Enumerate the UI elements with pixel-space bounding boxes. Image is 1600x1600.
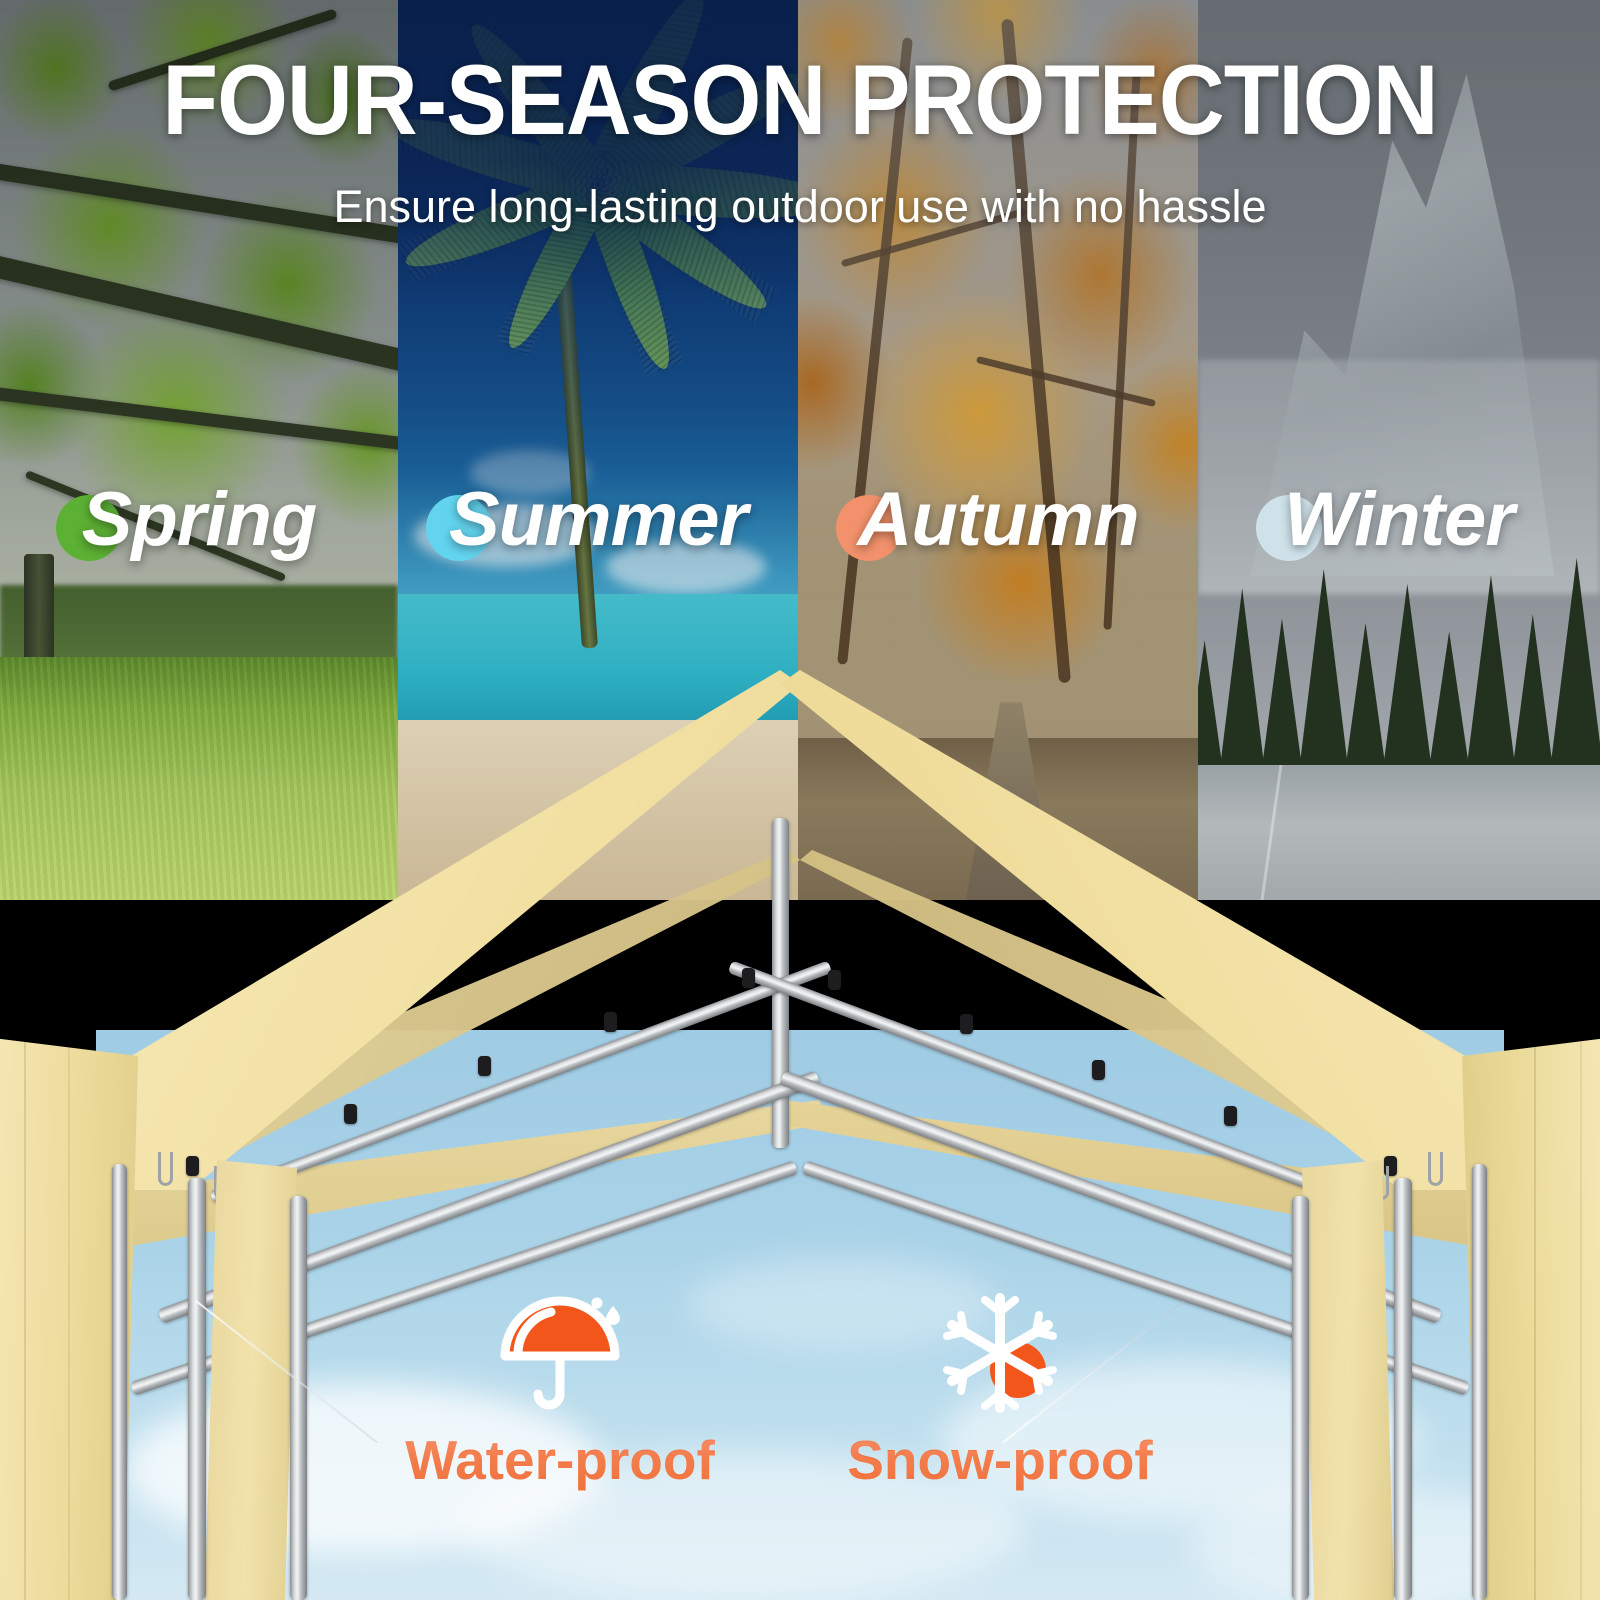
feature-water-proof: Water-proof xyxy=(390,1278,730,1492)
feature-label-water-proof: Water-proof xyxy=(390,1428,730,1492)
canopy-clip xyxy=(344,1104,357,1124)
column-fabric-right xyxy=(1302,1160,1394,1600)
headline: FOUR-SEASON PROTECTION xyxy=(64,52,1536,147)
canopy-clip xyxy=(186,1156,199,1176)
season-name-spring: Spring xyxy=(82,476,317,563)
season-name-autumn: Autumn xyxy=(857,476,1138,563)
season-name-summer: Summer xyxy=(449,476,747,563)
corner-hook xyxy=(1428,1152,1443,1186)
leg-post-mid-right xyxy=(1292,1196,1309,1600)
season-label-autumn: Autumn xyxy=(798,471,1198,567)
canopy-clip xyxy=(828,970,841,990)
leg-post-inner-left xyxy=(188,1178,206,1600)
canopy-clip xyxy=(604,1012,617,1032)
corner-hook xyxy=(158,1152,173,1186)
season-label-spring: Spring xyxy=(0,471,398,567)
canopy-clip xyxy=(742,968,755,988)
season-label-winter: Winter xyxy=(1198,471,1600,567)
season-name-winter: Winter xyxy=(1284,476,1514,563)
leg-post-outer-left xyxy=(112,1164,127,1600)
season-label-summer: Summer xyxy=(398,471,798,567)
canopy-clip xyxy=(960,1014,973,1034)
feature-label-snow-proof: Snow-proof xyxy=(830,1428,1170,1492)
canopy-clip xyxy=(1224,1106,1237,1126)
leg-post-outer-right xyxy=(1472,1164,1487,1600)
snowflake-icon xyxy=(830,1278,1170,1428)
umbrella-icon xyxy=(390,1278,730,1428)
canopy-clip xyxy=(478,1056,491,1076)
subheadline: Ensure long-lasting outdoor use with no … xyxy=(0,181,1600,233)
leg-post-inner-right xyxy=(1394,1178,1412,1600)
product-marketing-banner: FOUR-SEASON PROTECTION Ensure long-lasti… xyxy=(0,0,1600,1600)
leg-post-mid-left xyxy=(290,1196,307,1600)
canopy-clip xyxy=(1092,1060,1105,1080)
carport-canopy-tent: Water-proof xyxy=(0,600,1600,1600)
column-fabric-left xyxy=(205,1160,297,1600)
feature-snow-proof: Snow-proof xyxy=(830,1278,1170,1492)
